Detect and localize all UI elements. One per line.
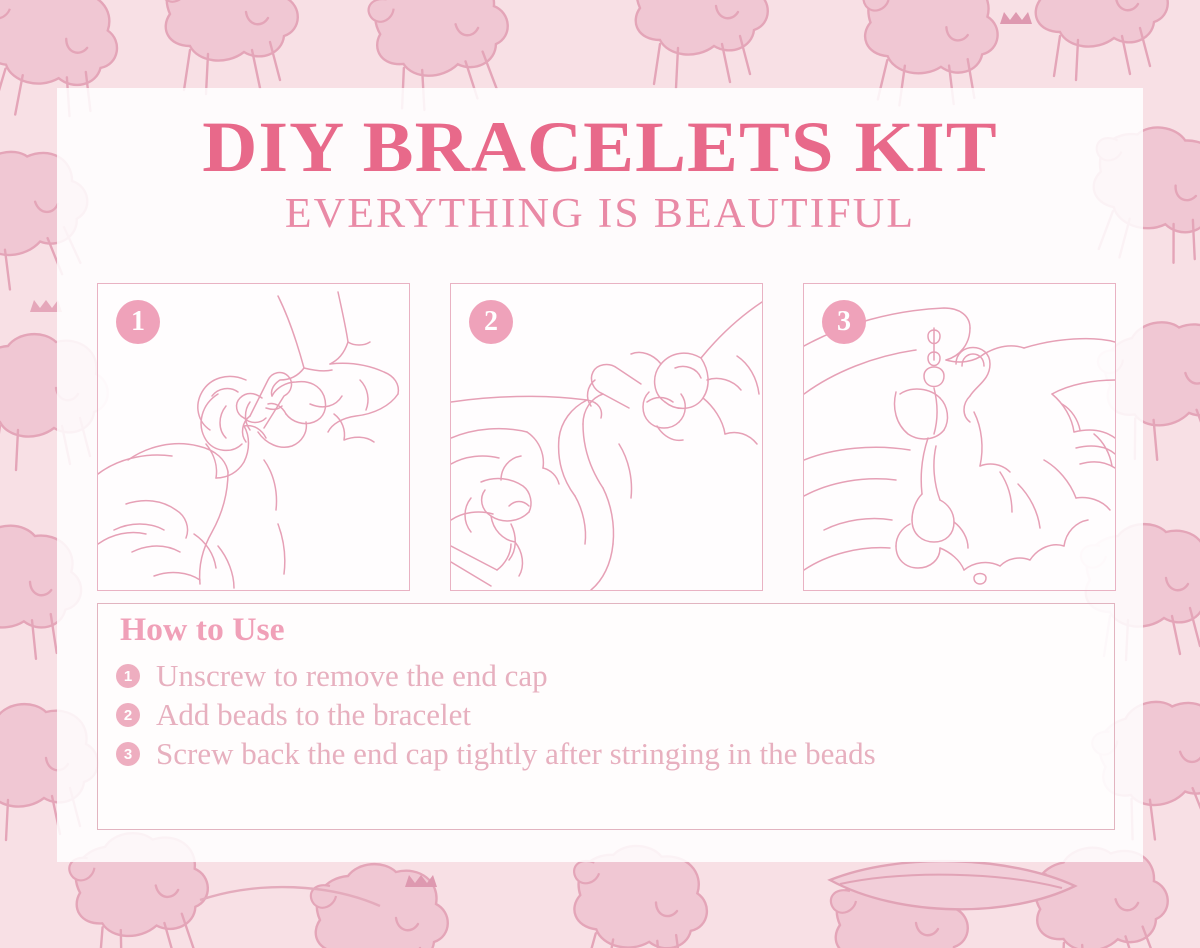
- list-item-text: Add beads to the bracelet: [156, 697, 471, 732]
- step-panel-1: 1: [97, 283, 410, 591]
- page-title: DIY BRACELETS KIT: [24, 110, 1175, 184]
- list-item-text: Screw back the end cap tightly after str…: [156, 736, 876, 771]
- list-number-badge-1: 1: [116, 664, 140, 688]
- step-badge-1: 1: [116, 300, 160, 344]
- list-item-text: Unscrew to remove the end cap: [156, 658, 548, 693]
- step-panel-2: 2: [450, 283, 763, 591]
- poster-canvas: DIY BRACELETS KIT EVERYTHING IS BEAUTIFU…: [0, 0, 1200, 948]
- step-badge-3: 3: [822, 300, 866, 344]
- step-badge-2: 2: [469, 300, 513, 344]
- list-item: 3 Screw back the end cap tightly after s…: [116, 734, 1094, 773]
- how-to-use-box: How to Use 1 Unscrew to remove the end c…: [97, 603, 1115, 830]
- poster-card: DIY BRACELETS KIT EVERYTHING IS BEAUTIFU…: [57, 88, 1143, 862]
- list-number-badge-3: 3: [116, 742, 140, 766]
- step-illustration-panels: 1: [97, 283, 1116, 591]
- step-panel-3: 3: [803, 283, 1116, 591]
- list-item: 2 Add beads to the bracelet: [116, 695, 1094, 734]
- page-subtitle: EVERYTHING IS BEAUTIFUL: [35, 192, 1164, 236]
- how-to-use-heading: How to Use: [120, 612, 285, 648]
- list-number-badge-2: 2: [116, 703, 140, 727]
- list-item: 1 Unscrew to remove the end cap: [116, 656, 1094, 695]
- how-to-use-list: 1 Unscrew to remove the end cap 2 Add be…: [116, 656, 1094, 773]
